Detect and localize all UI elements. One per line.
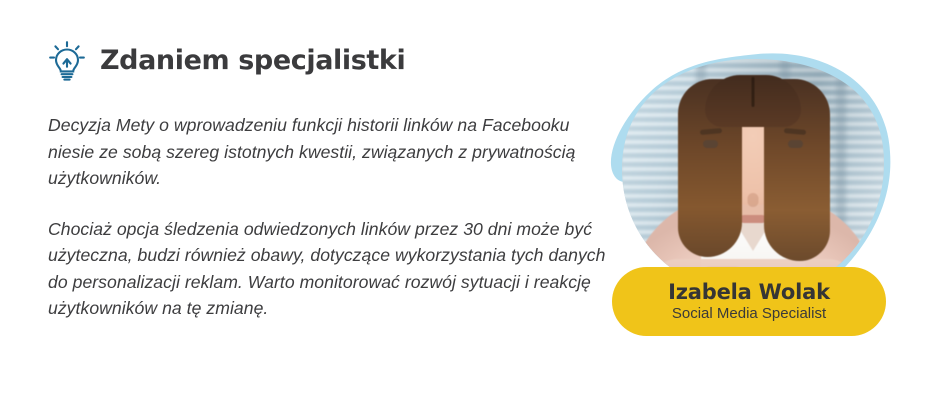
eye-right [788,140,803,148]
page-title: Zdaniem specjalistki [100,47,405,74]
mouth [740,215,766,223]
heading-row: Zdaniem specjalistki [48,38,405,82]
nose [748,193,759,207]
hair-part [752,77,755,107]
name-badge: Izabela Wolak Social Media Specialist [612,267,886,336]
expert-role: Social Media Specialist [672,305,826,323]
paragraph-1: Decyzja Mety o wprowadzeniu funkcji hist… [48,112,613,192]
expert-opinion-card: Zdaniem specjalistki Decyzja Mety o wpro… [0,0,950,400]
lightbulb-icon [48,38,86,82]
body-text: Decyzja Mety o wprowadzeniu funkcji hist… [48,112,613,322]
eye-left [703,140,718,148]
text-column: Zdaniem specjalistki Decyzja Mety o wpro… [0,0,620,400]
paragraph-2: Chociaż opcja śledzenia odwiedzonych lin… [48,216,613,322]
expert-name: Izabela Wolak [668,280,830,304]
